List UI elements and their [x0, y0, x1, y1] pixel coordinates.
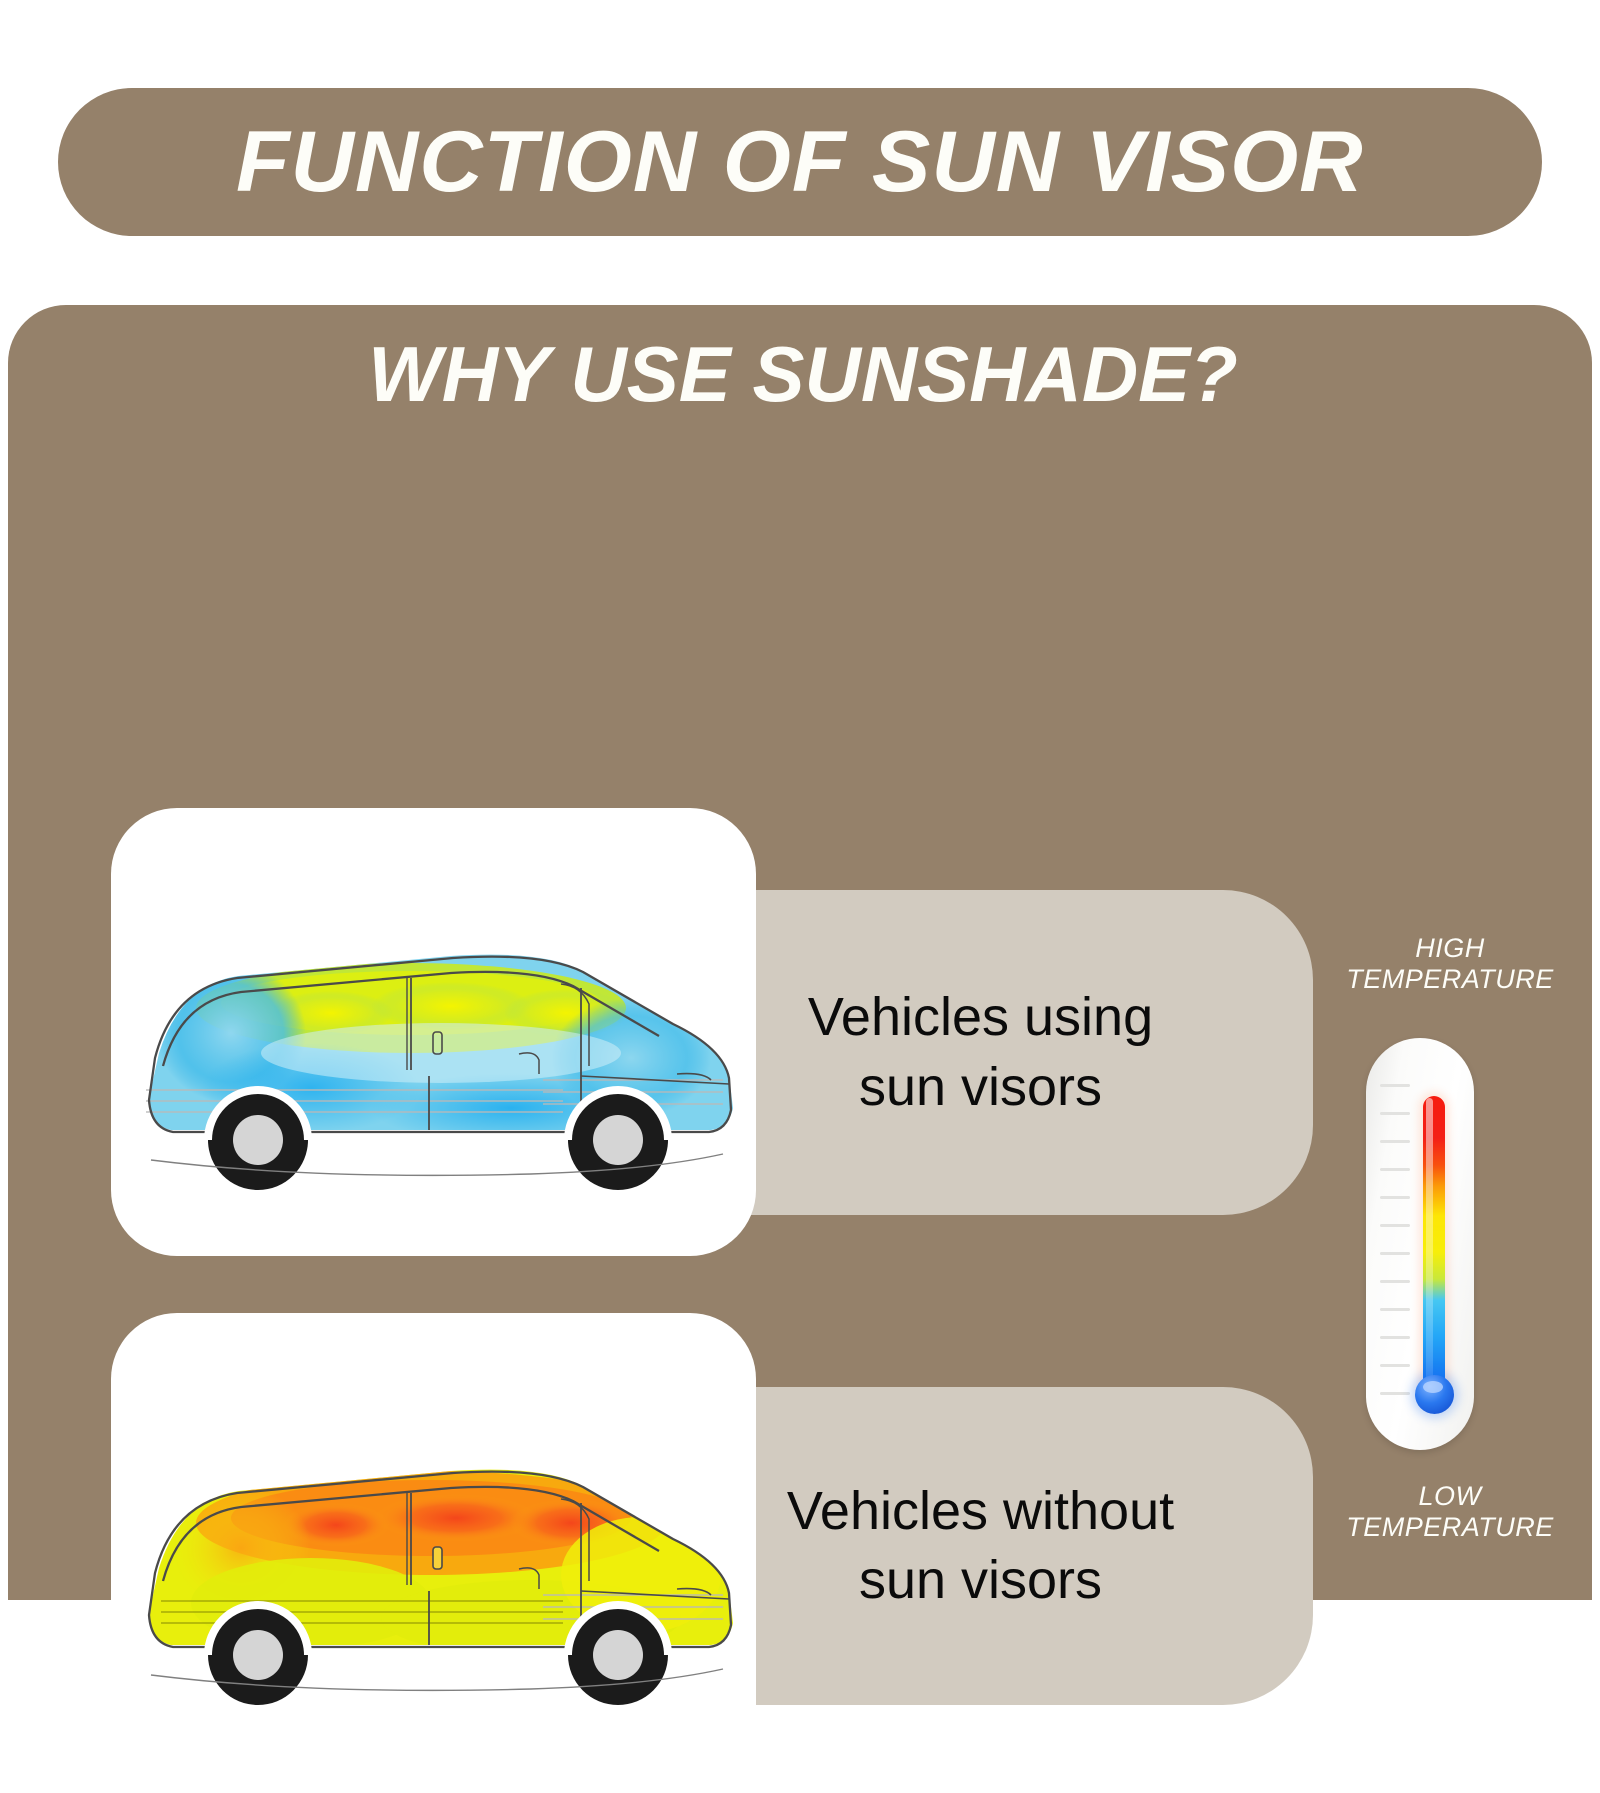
high-temp-line-1: HIGH [1415, 933, 1485, 963]
high-temp-line-2: TEMPERATURE [1346, 964, 1554, 994]
section-heading: WHY USE SUNSHADE? [8, 335, 1598, 413]
temperature-scale: HIGH TEMPERATURE LOW TEMPERATURE [1330, 933, 1570, 1563]
low-temperature-label: LOW TEMPERATURE [1330, 1481, 1570, 1543]
wheel [208, 1605, 308, 1705]
label-line-2: sun visors [859, 1550, 1102, 1610]
thermometer-tick [1380, 1308, 1410, 1311]
thermometer-tick [1380, 1140, 1410, 1143]
thermometer-tick [1380, 1196, 1410, 1199]
high-temperature-label: HIGH TEMPERATURE [1330, 933, 1570, 995]
minivan-heatmap-hot-icon [111, 1313, 756, 1793]
wheel [568, 1605, 668, 1705]
thermometer-tick [1380, 1252, 1410, 1255]
thermometer-bulb-highlight [1423, 1381, 1443, 1393]
minivan-heatmap-cool-icon [111, 808, 756, 1256]
label-line-2: sun visors [859, 1057, 1102, 1117]
main-panel: WHY USE SUNSHADE? Vehicles using sun vis… [8, 305, 1592, 1600]
car-card-without-visor [111, 1313, 756, 1793]
thermometer-tick [1380, 1224, 1410, 1227]
thermometer-tube-highlight [1426, 1098, 1433, 1390]
label-line-1: Vehicles using [808, 987, 1153, 1047]
title-banner: FUNCTION OF SUN VISOR [58, 88, 1542, 236]
thermometer-tick [1380, 1392, 1410, 1395]
wheel [568, 1090, 668, 1190]
car-card-with-visor [111, 808, 756, 1256]
thermometer-tick [1380, 1112, 1410, 1115]
thermometer-icon [1366, 1038, 1474, 1450]
low-temp-line-2: TEMPERATURE [1346, 1512, 1554, 1542]
thermometer-tick [1380, 1336, 1410, 1339]
thermometer-tick [1380, 1280, 1410, 1283]
low-temp-line-1: LOW [1418, 1481, 1481, 1511]
thermometer-tick [1380, 1168, 1410, 1171]
thermometer-tick [1380, 1364, 1410, 1367]
wheel [208, 1090, 308, 1190]
label-line-1: Vehicles without [787, 1481, 1174, 1541]
thermometer-tick [1380, 1084, 1410, 1087]
page-title: FUNCTION OF SUN VISOR [236, 119, 1364, 205]
